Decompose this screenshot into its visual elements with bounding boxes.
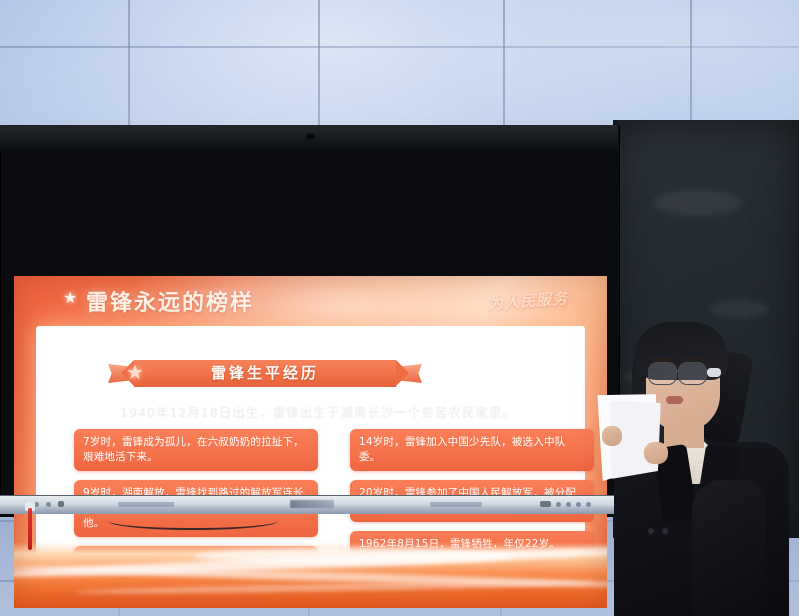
blazer-button	[648, 528, 654, 534]
bezel-button[interactable]	[556, 502, 561, 507]
eyeglasses-lens-left	[648, 362, 677, 385]
slide-screen[interactable]: ★ 雷锋永远的榜样 为人民服务 雷锋生平经历 ★ 1940年12月18日出生，雷…	[14, 276, 607, 608]
cable	[108, 512, 278, 530]
wall-seam	[0, 46, 799, 48]
bezel-port	[118, 502, 174, 507]
power-button[interactable]	[540, 501, 551, 507]
eyeglasses-bridge	[675, 370, 679, 372]
presenter	[604, 330, 799, 616]
bezel-indicator	[46, 502, 51, 507]
eyebrow	[682, 358, 702, 361]
bezel-port	[430, 502, 482, 507]
red-tassel	[28, 508, 32, 550]
eyeglasses-lens-right	[678, 362, 707, 385]
display-brand-logo	[290, 500, 334, 508]
interactive-flat-panel[interactable]: ★ 雷锋永远的榜样 为人民服务 雷锋生平经历 ★ 1940年12月18日出生，雷…	[0, 125, 620, 517]
hand	[644, 442, 668, 464]
camera-icon	[306, 133, 315, 140]
hair-tie	[707, 368, 721, 377]
bezel-button[interactable]	[566, 502, 571, 507]
arm	[692, 480, 766, 616]
classroom-scene: ★ 雷锋永远的榜样 为人民服务 雷锋生平经历 ★ 1940年12月18日出生，雷…	[0, 0, 799, 616]
bezel-indicator	[58, 501, 64, 507]
bezel-button[interactable]	[576, 502, 581, 507]
eyebrow	[652, 358, 672, 361]
screen-vignette	[14, 276, 607, 608]
mouth	[666, 396, 683, 404]
blazer-button	[662, 528, 668, 534]
hand	[602, 426, 622, 446]
bezel-button[interactable]	[586, 502, 591, 507]
